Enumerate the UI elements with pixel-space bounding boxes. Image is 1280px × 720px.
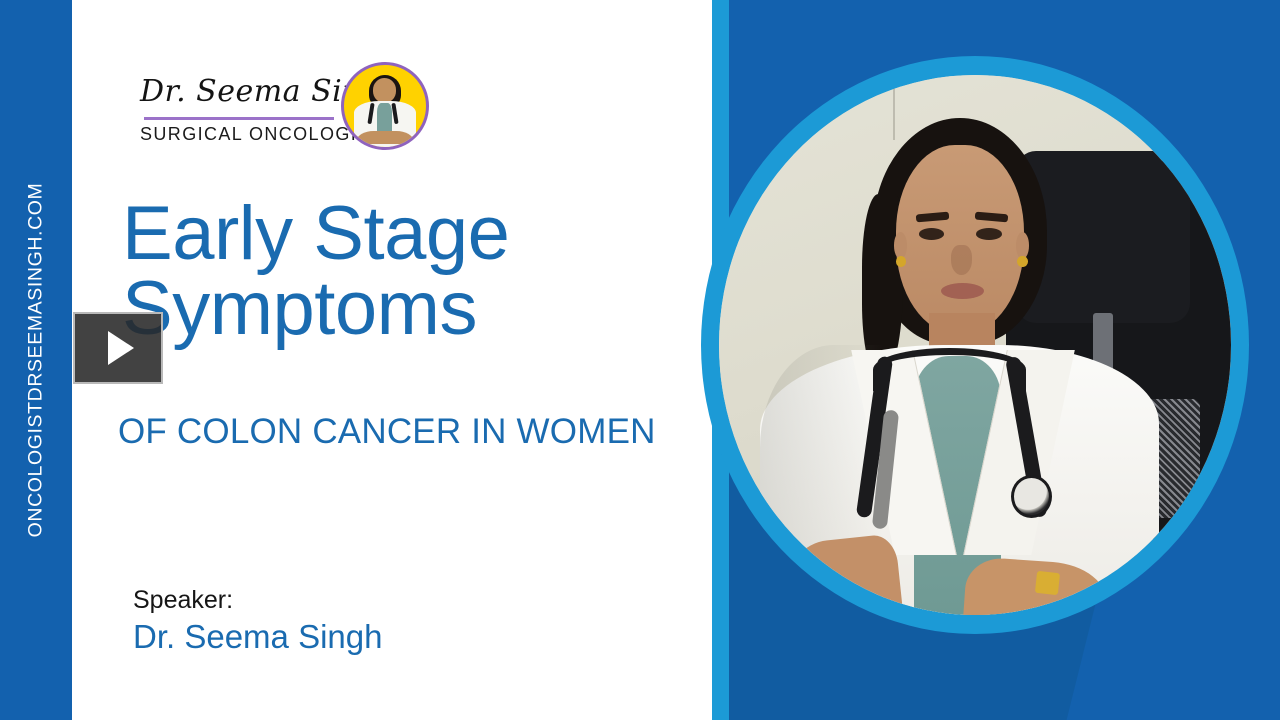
- portrait-wristwatch: [1035, 571, 1060, 595]
- portrait-earring-right: [1017, 256, 1027, 267]
- portrait-lips: [941, 283, 985, 299]
- portrait-ear-right: [1016, 232, 1029, 259]
- title-line-1: Early Stage: [122, 191, 509, 276]
- logo-name-script: Dr. Seema Singh: [140, 74, 336, 109]
- portrait-eye-right: [976, 228, 1002, 240]
- portrait-wall-seam: [893, 75, 895, 140]
- badge-scrub-top: [377, 103, 392, 133]
- video-play-button[interactable]: [73, 312, 163, 384]
- website-url-vertical: ONCOLOGISTDRSEEMASINGH.COM: [25, 183, 48, 538]
- stethoscope-yoke-icon: [873, 348, 1027, 391]
- logo-doctor-badge-icon: [341, 62, 429, 150]
- stethoscope-bell-icon: [1011, 475, 1052, 518]
- speaker-name: Dr. Seema Singh: [133, 618, 382, 656]
- logo-divider-rule: [144, 117, 334, 120]
- brand-logo: Dr. Seema Singh SURGICAL ONCOLOGIST: [138, 62, 424, 160]
- portrait-earring-left: [896, 256, 906, 267]
- portrait-nose: [951, 245, 971, 275]
- page-title: Early Stage Symptoms: [122, 196, 702, 346]
- speaker-label: Speaker:: [133, 586, 233, 615]
- logo-tagline: SURGICAL ONCOLOGIST: [140, 124, 336, 145]
- badge-face: [373, 78, 397, 103]
- play-triangle-icon: [108, 331, 134, 365]
- badge-folded-arms: [357, 131, 413, 144]
- doctor-portrait-photo: [719, 75, 1231, 615]
- portrait-face: [896, 145, 1024, 334]
- left-accent-bar: ONCOLOGISTDRSEEMASINGH.COM: [0, 0, 72, 720]
- presentation-slide: ONCOLOGISTDRSEEMASINGH.COM: [0, 0, 1280, 720]
- title-line-2: Symptoms: [122, 271, 702, 346]
- page-subtitle: OF COLON CANCER IN WOMEN: [118, 412, 718, 452]
- portrait-ring-frame: [701, 56, 1249, 634]
